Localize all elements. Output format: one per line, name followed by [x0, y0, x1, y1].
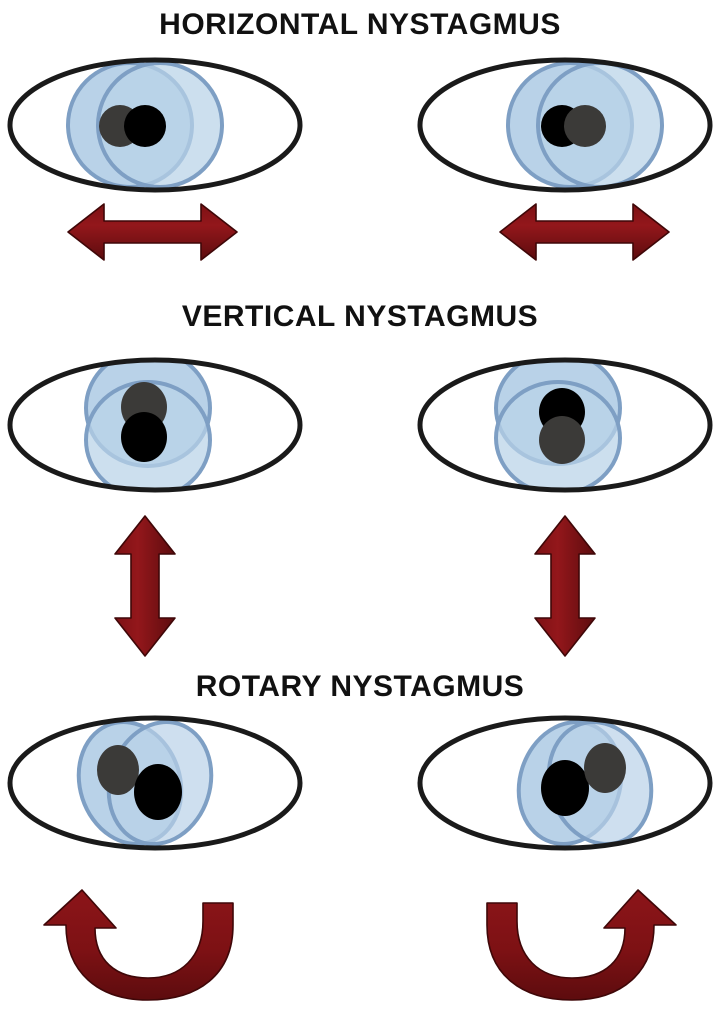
nystagmus-illustration-svg: [0, 0, 720, 1009]
pupil-dark: [541, 760, 589, 816]
vertical-eye-left: [10, 350, 300, 498]
nystagmus-diagram: HORIZONTAL NYSTAGMUS VERTICAL NYSTAGMUS …: [0, 0, 720, 1009]
arrow-rotary-right: [487, 890, 676, 1000]
horizontal-eye-left: [10, 60, 300, 190]
pupil-gray: [97, 745, 139, 795]
horizontal-eye-right: [420, 60, 710, 190]
pupil-dark: [124, 105, 166, 147]
arrow-vertical-left: [115, 516, 175, 656]
rotary-eye-left: [10, 709, 300, 858]
pupil-gray: [539, 416, 585, 464]
pupil-dark: [134, 764, 182, 820]
arrow-horizontal-left: [68, 204, 237, 260]
rotary-eye-right: [420, 709, 710, 858]
vertical-eye-right: [420, 352, 710, 494]
pupil-gray: [584, 743, 626, 793]
pupil-gray: [564, 105, 606, 147]
arrow-rotary-left: [44, 890, 233, 1000]
arrow-vertical-right: [535, 516, 595, 656]
pupil-dark: [121, 412, 167, 462]
arrow-horizontal-right: [500, 204, 669, 260]
